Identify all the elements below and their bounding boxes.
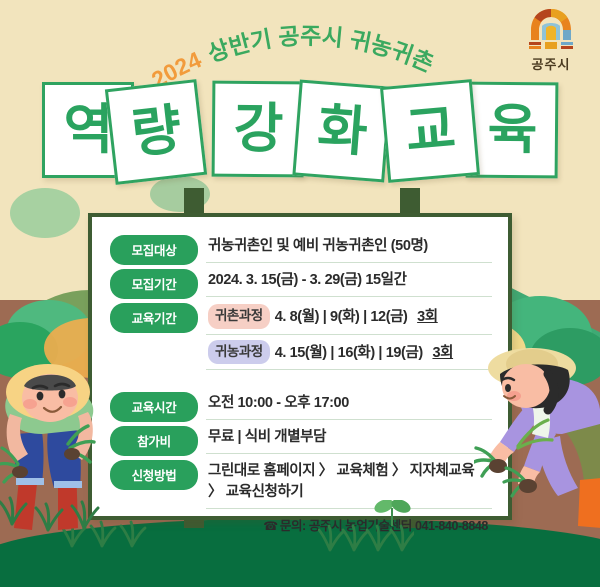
farmer-planting-left — [0, 338, 120, 538]
row-label: 모집기간 — [110, 269, 198, 299]
title-card: 화 — [292, 80, 391, 183]
title-card-char: 강 — [233, 102, 282, 156]
gongju-city-logo: 공주시 — [516, 6, 586, 73]
row-label: 참가비 — [110, 426, 198, 456]
title-card-char: 량 — [129, 102, 183, 161]
row-value: 무료 | 식비 개별부담 — [208, 427, 490, 448]
title-card: 량 — [105, 79, 207, 185]
info-row-fee: 참가비 무료 | 식비 개별부담 — [110, 422, 492, 456]
telephone-icon: ☎ — [263, 519, 278, 533]
arch-logo-icon — [522, 6, 580, 52]
title-card: 교 — [380, 79, 480, 183]
info-row-recruit-period: 모집기간 2024. 3. 15(금) - 3. 29(금) 15일간 — [110, 265, 492, 299]
row-spacer — [110, 370, 492, 388]
course-tag-rural: 귀촌과정 — [208, 304, 270, 329]
logo-label: 공주시 — [516, 54, 586, 73]
info-row-how-to-apply: 신청방법 그린대로 홈페이지 〉 교육체험 〉 지자체교육 〉 교육신청하기 — [110, 456, 492, 509]
info-row-training-hours: 교육시간 오전 10:00 - 오후 17:00 — [110, 388, 492, 422]
info-row-training-period-rural: 교육기간 귀촌과정4. 8(월) | 9(화) | 12(금) 3회 — [110, 299, 492, 335]
row-label: 교육기간 — [110, 303, 198, 333]
course-dates: 4. 15(월) | 16(화) | 19(금) — [275, 345, 423, 361]
course-count: 3회 — [417, 309, 438, 325]
decorative-bush — [10, 188, 80, 238]
title-card-char: 화 — [316, 102, 369, 160]
course-tag-farming: 귀농과정 — [208, 340, 270, 365]
title-card-char: 교 — [403, 102, 456, 160]
course-count: 3회 — [432, 345, 453, 361]
course-dates: 4. 8(월) | 9(화) | 12(금) — [275, 309, 408, 325]
title-card-char: 육 — [487, 103, 536, 157]
farmer-planting-right — [474, 330, 600, 538]
row-value: 그린대로 홈페이지 〉 교육체험 〉 지자체교육 〉 교육신청하기 — [208, 461, 490, 503]
title-card: 강 — [212, 81, 305, 178]
row-label: 교육시간 — [110, 392, 198, 422]
title-card: 육 — [466, 82, 559, 179]
row-label: 모집대상 — [110, 235, 198, 265]
contact-row: ☎문의: 공주시 농업기술센터 041-840-8848 — [110, 509, 492, 535]
young-sprout-icon — [372, 500, 412, 526]
title-card-char: 역 — [64, 103, 113, 157]
rice-sprouts-center — [318, 500, 414, 552]
info-row-training-period-farming: 귀농과정4. 15(월) | 16(화) | 19(금) 3회 — [110, 335, 492, 371]
row-value: 2024. 3. 15(금) - 3. 29(금) 15일간 — [208, 270, 490, 291]
row-value: 오전 10:00 - 오후 17:00 — [208, 393, 490, 414]
info-row-recruit-target: 모집대상 귀농귀촌인 및 예비 귀농귀촌인 (50명) — [110, 231, 492, 265]
title-cards: 역 량 강 화 교 육 — [0, 78, 600, 180]
poster-root: 공주시 2024 상반기 공주시 귀농귀촌 역 량 강 화 교 육 — [0, 0, 600, 587]
row-label: 신청방법 — [110, 460, 198, 490]
information-board: 모집대상 귀농귀촌인 및 예비 귀농귀촌인 (50명) 모집기간 2024. 3… — [88, 213, 512, 520]
row-value: 귀농귀촌인 및 예비 귀농귀촌인 (50명) — [208, 236, 490, 257]
